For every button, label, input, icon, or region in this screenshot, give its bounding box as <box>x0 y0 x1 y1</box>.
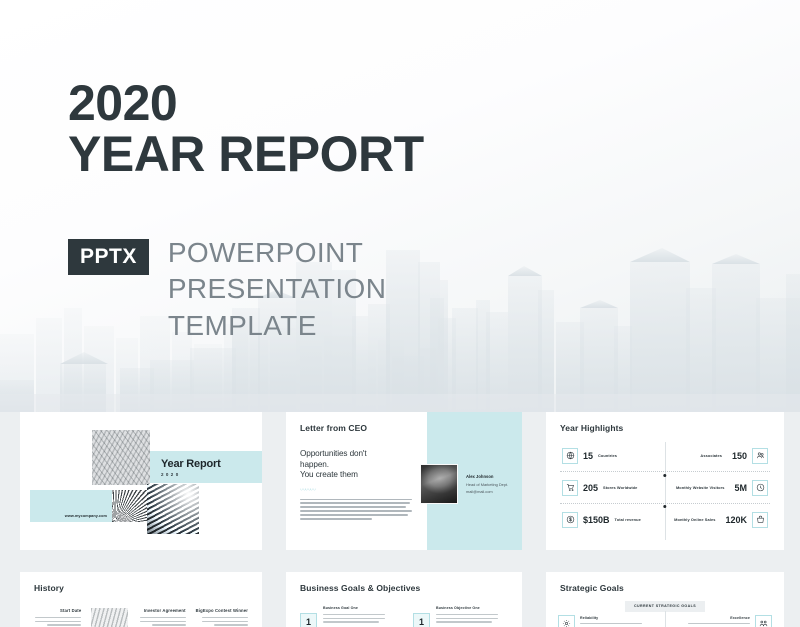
hero-banner: 2020 YEAR REPORT PPTX POWERPOINT PRESENT… <box>0 0 800 412</box>
ceo-quote-line-1: Opportunities don't <box>300 449 412 460</box>
cover-title: Year Report <box>150 451 262 470</box>
cover-image-curves <box>147 484 199 534</box>
hero-title-line-2: YEAR REPORT <box>68 129 424 180</box>
history-columns: Start Date Investor Agreement BigExpo Co… <box>20 608 262 627</box>
goals-slide-title: Business Goals & Objectives <box>300 583 508 593</box>
strategic-divider <box>665 611 666 627</box>
highlights-label: Total revenue <box>615 517 641 522</box>
hero-title-line-1: 2020 <box>68 75 177 131</box>
highlights-value: 150 <box>732 451 747 461</box>
strategic-goals-pill: CURRENT STRATEGIC GOALS <box>625 601 705 612</box>
strategic-label: Reliability <box>580 616 642 620</box>
ceo-quote: Opportunities don't happen. You create t… <box>300 449 412 481</box>
ceo-squiggle-divider: 〰〰〰 <box>300 485 508 494</box>
shopping-bag-icon <box>752 512 768 528</box>
hero-subtitle-line-3: TEMPLATE <box>168 308 386 344</box>
cover-image-architecture <box>92 430 150 485</box>
history-item: Investor Agreement <box>138 608 185 627</box>
strategic-columns: Reliability Excellence <box>546 615 784 627</box>
slide-thumb-cover[interactable]: Year Report 2020 www.mycompany.com <box>20 412 262 550</box>
hero-text-block: 2020 YEAR REPORT PPTX POWERPOINT PRESENT… <box>68 78 424 344</box>
ceo-body-text <box>300 499 412 521</box>
history-item: BigExpo Contest Winner <box>196 608 248 627</box>
ceo-quote-line-2: happen. <box>300 460 412 471</box>
highlights-slide-title: Year Highlights <box>560 423 770 433</box>
group-icon <box>755 615 772 627</box>
strategic-item: Excellence <box>665 615 772 627</box>
highlights-value: 120K <box>725 515 747 525</box>
goals-columns: Business Goal One 1 Business Objective O… <box>286 606 522 627</box>
ceo-quote-line-3: You create them <box>300 470 412 481</box>
slide-thumb-strategic-goals[interactable]: Strategic Goals CURRENT STRATEGIC GOALS … <box>546 572 784 627</box>
people-icon <box>752 448 768 464</box>
hero-subtitle-line-1: POWERPOINT <box>168 235 386 271</box>
gear-icon <box>558 615 575 627</box>
goal-label: Business Objective One <box>436 606 508 610</box>
slide-thumb-business-goals[interactable]: Business Goals & Objectives Business Goa… <box>286 572 522 627</box>
hero-subtitle-block: PPTX POWERPOINT PRESENTATION TEMPLATE <box>68 235 424 344</box>
highlights-value: $150B <box>583 515 610 525</box>
goal-label: Business Goal One <box>323 606 395 610</box>
slide-thumb-year-highlights[interactable]: Year Highlights 15 Countries <box>546 412 784 550</box>
highlights-row: $150B Total revenue Monthly Online Sales… <box>560 504 770 535</box>
goal-item: Business Goal One 1 <box>300 606 395 627</box>
history-item-label: BigExpo Contest Winner <box>196 608 248 613</box>
goal-number: 1 <box>300 613 317 627</box>
highlights-row: 15 Countries Associates 150 <box>560 440 770 471</box>
cart-icon <box>562 480 578 496</box>
history-item-label: Investor Agreement <box>138 608 185 613</box>
clock-icon <box>752 480 768 496</box>
highlights-value: 205 <box>583 483 598 493</box>
slide-thumb-letter-from-ceo[interactable]: Letter from CEO Opportunities don't happ… <box>286 412 522 550</box>
cover-website-url: www.mycompany.com <box>65 514 107 518</box>
goal-item: Business Objective One 1 <box>413 606 508 627</box>
highlights-label: Monthly Online Sales <box>674 517 715 522</box>
highlights-label: Stores Worldwide <box>603 485 637 490</box>
history-photo <box>91 608 128 627</box>
highlights-label: Monthly Website Visitors <box>676 485 725 490</box>
history-item-label: Start Date <box>34 608 81 613</box>
strategic-slide-title: Strategic Goals <box>560 583 770 593</box>
history-item: Start Date <box>34 608 81 627</box>
strategic-item: Reliability <box>558 615 665 627</box>
goal-number: 1 <box>413 613 430 627</box>
highlights-label: Associates <box>700 453 722 458</box>
globe-icon <box>562 448 578 464</box>
cover-year: 2020 <box>150 472 262 477</box>
hero-subtitle: POWERPOINT PRESENTATION TEMPLATE <box>168 235 386 344</box>
cover-mint-block: www.mycompany.com <box>30 490 112 522</box>
hero-subtitle-line-2: PRESENTATION <box>168 271 386 307</box>
format-badge-pptx: PPTX <box>68 239 149 275</box>
cover-image-grass <box>112 490 147 522</box>
highlights-label: Countries <box>598 453 617 458</box>
strategic-label: Excellence <box>688 616 750 620</box>
dollar-icon <box>562 512 578 528</box>
page-title: 2020 YEAR REPORT <box>68 78 424 180</box>
slide-thumb-history[interactable]: History Start Date Investor Agreement <box>20 572 262 627</box>
highlights-value: 5M <box>734 483 747 493</box>
highlights-row: 205 Stores Worldwide Monthly Website Vis… <box>560 472 770 503</box>
ceo-slide-title: Letter from CEO <box>300 423 508 433</box>
slide-thumbnail-grid: Year Report 2020 www.mycompany.com Lette… <box>0 412 800 627</box>
highlights-value: 15 <box>583 451 593 461</box>
history-slide-title: History <box>34 583 248 593</box>
cover-title-band: Year Report 2020 <box>150 451 262 483</box>
